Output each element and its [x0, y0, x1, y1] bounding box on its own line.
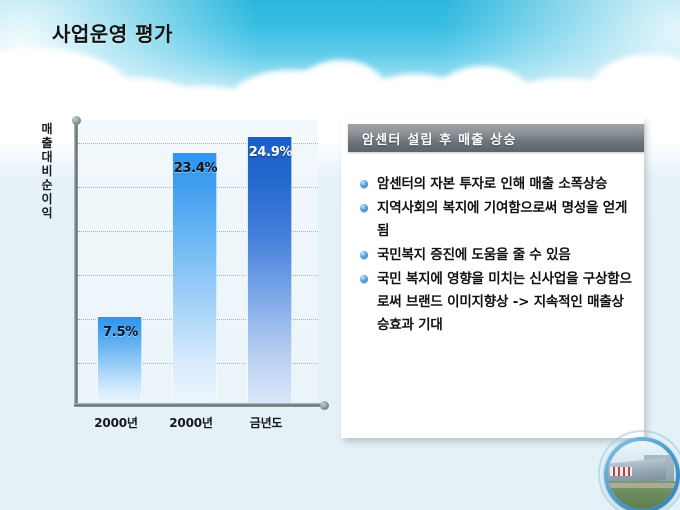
bullet-text: 국민복지 증진에 도움을 줄 수 있음 [377, 244, 632, 267]
bullet-text: 국민 복지에 영향을 미치는 신사업을 구상함으로써 브랜드 이미지향상 -> … [377, 268, 632, 337]
summary-panel: 암센터 설립 후 매출 상승 암센터의 자본 투자로 인해 매출 소폭상승 지역… [341, 117, 644, 438]
bar-value-1: 23.4% [173, 161, 218, 176]
list-item: 국민 복지에 영향을 미치는 신사업을 구상함으로써 브랜드 이미지향상 -> … [353, 268, 632, 337]
list-item: 국민복지 증진에 도움을 줄 수 있음 [353, 244, 632, 267]
bar-0[interactable]: 7.5% [97, 317, 142, 405]
chart-x-axis [74, 403, 324, 407]
bar-value-2: 24.9% [248, 145, 293, 160]
building-photo-circle [604, 437, 680, 510]
x-axis-cap-icon [320, 401, 329, 410]
bullet-dot-icon [360, 275, 368, 283]
presentation-slide: 사업운영 평가 매출대비순이익 7.5% 23.4% 24.9% [0, 0, 680, 510]
chart-y-axis-label: 매출대비순이익 [38, 122, 56, 220]
x-tick-label-2: 금년도 [231, 414, 301, 431]
x-tick-label-0: 2000년 [81, 414, 151, 431]
list-item: 지역사회의 복지에 기여함으로써 명성을 얻게 됨 [353, 197, 632, 243]
bar-chart: 매출대비순이익 7.5% 23.4% 24.9% 2000년 [34, 112, 334, 432]
bullet-dot-icon [360, 180, 368, 188]
panel-header-title: 암센터 설립 후 매출 상승 [362, 129, 517, 148]
bar-value-0: 7.5% [98, 325, 143, 340]
x-tick-label-1: 2000년 [156, 414, 226, 431]
slide-title: 사업운영 평가 [52, 18, 173, 47]
bullet-dot-icon [360, 251, 368, 259]
bullet-text: 지역사회의 복지에 기여함으로써 명성을 얻게 됨 [377, 197, 632, 243]
panel-header-bar: 암센터 설립 후 매출 상승 [348, 124, 644, 152]
bullet-text: 암센터의 자본 투자로 인해 매출 소폭상승 [377, 173, 632, 196]
bar-1[interactable]: 23.4% [172, 153, 217, 405]
bullet-dot-icon [360, 204, 368, 212]
y-axis-cap-icon [72, 116, 81, 125]
bar-2[interactable]: 24.9% [247, 137, 292, 405]
panel-bullet-list: 암센터의 자본 투자로 인해 매출 소폭상승 지역사회의 복지에 기여함으로써 … [341, 165, 644, 338]
chart-y-axis [74, 120, 78, 405]
building-photo-image [608, 441, 676, 509]
chart-plot-area: 7.5% 23.4% 24.9% [78, 120, 318, 405]
list-item: 암센터의 자본 투자로 인해 매출 소폭상승 [353, 173, 632, 196]
